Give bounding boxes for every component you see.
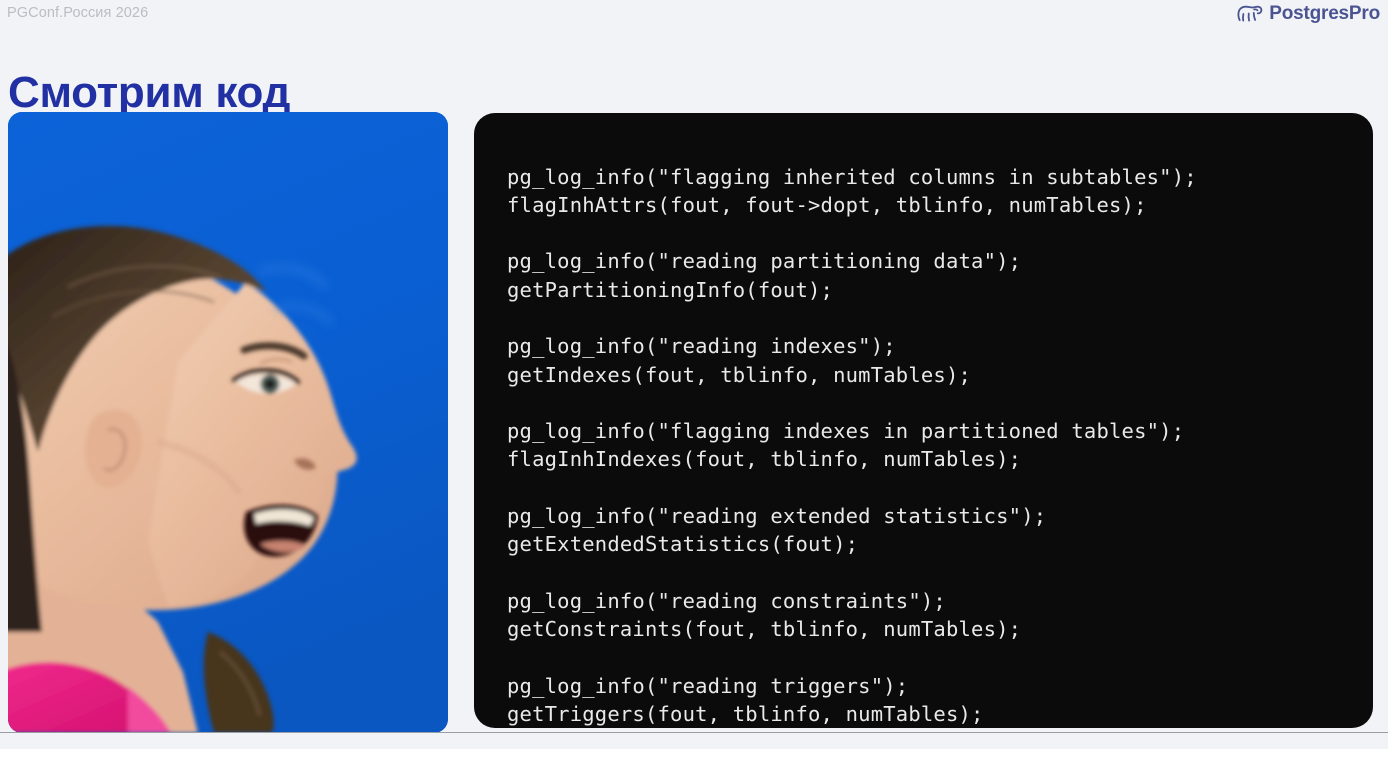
code-line: flagInhAttrs(fout, fout->dopt, tblinfo, … xyxy=(507,191,1361,219)
code-line-blank xyxy=(507,474,1361,502)
code-line: getIndexes(fout, tblinfo, numTables); xyxy=(507,361,1361,389)
code-line-blank xyxy=(507,644,1361,672)
code-line: pg_log_info("reading indexes"); xyxy=(507,332,1361,360)
code-line: pg_log_info("reading triggers"); xyxy=(507,672,1361,700)
brand-name: PostgresPro xyxy=(1269,3,1380,25)
code-panel: pg_log_info("flagging inherited columns … xyxy=(474,113,1373,728)
elephant-icon xyxy=(1236,4,1264,24)
photo-panel xyxy=(8,112,448,733)
code-line: getTriggers(fout, tblinfo, numTables); xyxy=(507,700,1361,728)
code-line: getExtendedStatistics(fout); xyxy=(507,530,1361,558)
code-line-blank xyxy=(507,304,1361,332)
code-line: getConstraints(fout, tblinfo, numTables)… xyxy=(507,615,1361,643)
code-line: pg_log_info("reading extended statistics… xyxy=(507,502,1361,530)
code-block: pg_log_info("flagging inherited columns … xyxy=(507,163,1361,729)
brand-lockup: PostgresPro xyxy=(1236,3,1380,25)
bottom-strip-inner xyxy=(0,733,1388,749)
code-line: pg_log_info("flagging inherited columns … xyxy=(507,163,1361,191)
code-line-blank xyxy=(507,219,1361,247)
code-line: pg_log_info("reading partitioning data")… xyxy=(507,247,1361,275)
code-line-blank xyxy=(507,559,1361,587)
slide: PGConf.Россия 2026 PostgresPro Смотрим к… xyxy=(0,0,1388,759)
conference-label: PGConf.Россия 2026 xyxy=(7,5,148,21)
code-line: flagInhIndexes(fout, tblinfo, numTables)… xyxy=(507,445,1361,473)
code-line: pg_log_info("reading constraints"); xyxy=(507,587,1361,615)
code-line-blank xyxy=(507,389,1361,417)
bottom-strip xyxy=(0,733,1388,759)
code-line: pg_log_info("flagging indexes in partiti… xyxy=(507,417,1361,445)
page-title: Смотрим код xyxy=(8,69,290,117)
code-line: getPartitioningInfo(fout); xyxy=(507,276,1361,304)
